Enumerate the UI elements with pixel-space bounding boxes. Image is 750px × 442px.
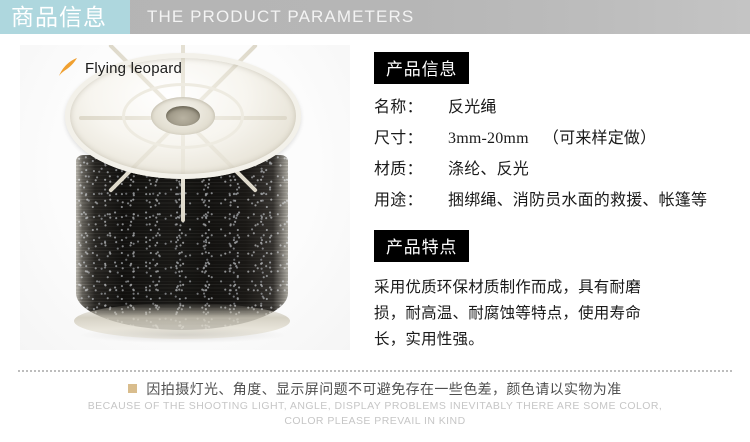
product-info-panel: 产品信息 名称： 反光绳 尺寸： 3mm-20mm （可来样定做） 材质： 涤纶… [374,52,736,353]
spec-row-usage: 用途： 捆绑绳、消防员水面的救援、帐篷等 [374,190,736,212]
spec-value: 3mm-20mm （可来样定做） [448,128,736,150]
spec-row-size: 尺寸： 3mm-20mm （可来样定做） [374,128,736,150]
watermark-text: Flying leopard [85,60,182,77]
product-photo: Flying leopard [20,45,350,350]
disclaimer-en-line2: COLOR PLEASE PREVAIL IN KIND [0,415,750,427]
spec-value-text: 3mm-20mm [448,130,529,147]
page-header: 商品信息 THE PRODUCT PARAMETERS [0,0,750,34]
spec-label: 尺寸： [374,128,448,150]
footer-divider [18,370,732,372]
header-title-en: THE PRODUCT PARAMETERS [147,0,414,34]
product-features-badge: 产品特点 [374,230,469,262]
disclaimer-en-line1: BECAUSE OF THE SHOOTING LIGHT, ANGLE, DI… [0,400,750,412]
spec-label: 材质： [374,159,448,181]
flying-leopard-logo-icon [58,57,80,77]
spec-label: 用途： [374,190,448,212]
spec-value-note: （可来样定做） [543,130,656,147]
spec-value: 涤纶、反光 [448,159,736,181]
product-features-text: 采用优质环保材质制作而成，具有耐磨损，耐高温、耐腐蚀等特点，使用寿命长，实用性强… [374,275,652,353]
disclaimer-cn: 因拍摄灯光、角度、显示屏问题不可避免存在一些色差，颜色请以实物为准 [0,379,750,399]
photo-drop-shadow [80,327,286,343]
spec-label: 名称： [374,97,448,119]
product-parameters-page: 商品信息 THE PRODUCT PARAMETERS [0,0,750,442]
product-info-badge: 产品信息 [374,52,469,84]
bullet-square-icon [128,384,137,393]
spec-list: 名称： 反光绳 尺寸： 3mm-20mm （可来样定做） 材质： 涤纶、反光 用… [374,97,736,212]
spec-row-material: 材质： 涤纶、反光 [374,159,736,181]
disclaimer-cn-text: 因拍摄灯光、角度、显示屏问题不可避免存在一些色差，颜色请以实物为准 [146,381,621,397]
spec-value: 捆绑绳、消防员水面的救援、帐篷等 [448,190,736,212]
header-title-cn: 商品信息 [11,1,107,34]
spec-row-name: 名称： 反光绳 [374,97,736,119]
product-features-section: 产品特点 采用优质环保材质制作而成，具有耐磨损，耐高温、耐腐蚀等特点，使用寿命长… [374,230,736,353]
spec-value: 反光绳 [448,97,736,119]
